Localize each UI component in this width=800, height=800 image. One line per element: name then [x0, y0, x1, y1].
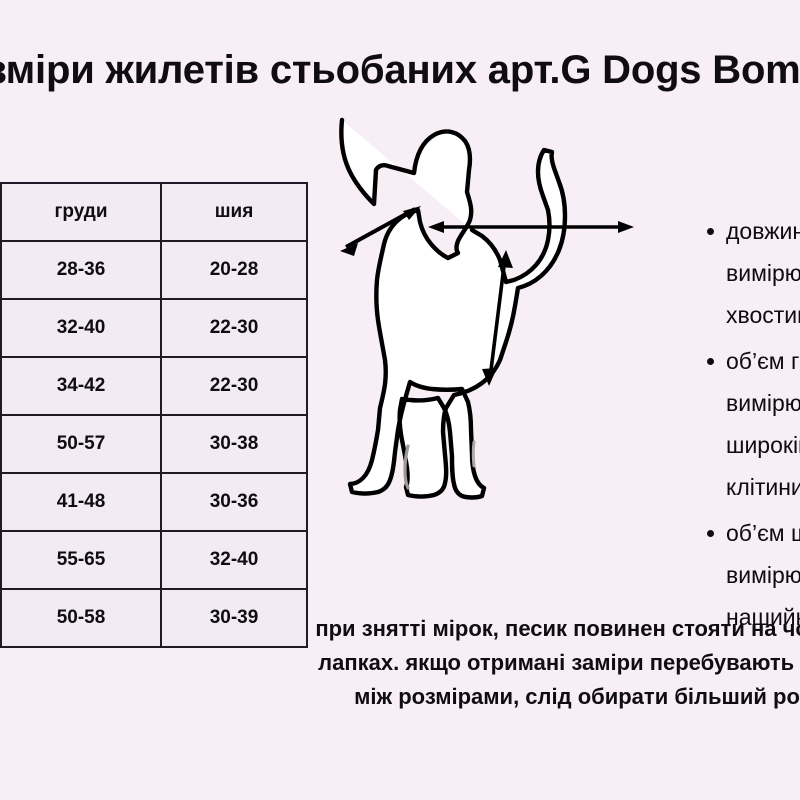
cell-chest: 41-48	[1, 473, 161, 531]
size-table-container: довжина груди шия XS 28-36 20-28 S 32-40…	[0, 182, 306, 648]
size-chart-page: Розміри жилетів стьобаних арт.G Dogs Bom…	[0, 0, 800, 800]
table-row: M 34-42 22-30	[0, 357, 307, 415]
cell-chest: 55-65	[1, 531, 161, 589]
dog-leg-shading-rear	[473, 442, 474, 466]
column-header-chest: груди	[1, 183, 161, 241]
tip-line: широкій частині грудної	[726, 424, 800, 466]
tip-line: об’єм грудей —	[726, 340, 800, 382]
table-row: XL 41-48 30-36	[0, 473, 307, 531]
cell-chest: 34-42	[1, 357, 161, 415]
note-line: між розмірами, слід обирати більший розм…	[50, 680, 800, 714]
list-item-back-length: довжина спинки — вимірюється від холки д…	[726, 210, 800, 336]
cell-neck: 30-36	[161, 473, 307, 531]
cell-neck: 30-38	[161, 415, 307, 473]
cell-neck: 20-28	[161, 241, 307, 299]
note-line: при знятті мірок, песик повинен стояти н…	[50, 612, 800, 646]
list-item-chest-girth: об’єм грудей — вимірюється у найбільш ши…	[726, 340, 800, 508]
column-header-neck: шия	[161, 183, 307, 241]
cell-chest: 50-57	[1, 415, 161, 473]
tip-line: хвостика	[726, 294, 800, 336]
dog-body-shape	[341, 120, 565, 498]
cell-neck: 22-30	[161, 299, 307, 357]
tips-ul: довжина спинки — вимірюється від холки д…	[700, 210, 800, 638]
tip-line: вимірюється у найбільш	[726, 382, 800, 424]
tip-line: довжина спинки —	[726, 210, 800, 252]
table-row: S 32-40 22-30	[0, 299, 307, 357]
cell-neck: 32-40	[161, 531, 307, 589]
tip-line: вимірюється від холки до	[726, 252, 800, 294]
tip-line: об’єм шиї —	[726, 512, 800, 554]
table-row: XXL 55-65 32-40	[0, 531, 307, 589]
cell-neck: 22-30	[161, 357, 307, 415]
table-row: L 50-57 30-38	[0, 415, 307, 473]
tip-line: вимірюється по основі	[726, 554, 800, 596]
page-title: Розміри жилетів стьобаних арт.G Dogs Bom…	[0, 48, 800, 92]
size-table: довжина груди шия XS 28-36 20-28 S 32-40…	[0, 182, 308, 648]
tip-line: клітини	[726, 466, 800, 508]
cell-chest: 32-40	[1, 299, 161, 357]
back-length-arrow	[428, 221, 634, 233]
page-title-text: Розміри жилетів стьобаних арт.G Dogs Bom…	[0, 48, 800, 92]
dog-measurement-illustration	[330, 110, 702, 535]
measurement-instructions-note: при знятті мірок, песик повинен стояти н…	[50, 612, 800, 714]
table-header-row: довжина груди шия	[0, 183, 307, 241]
measurement-tips-list: довжина спинки — вимірюється від холки д…	[700, 210, 800, 642]
table-row: XS 28-36 20-28	[0, 241, 307, 299]
cell-chest: 28-36	[1, 241, 161, 299]
note-line: лапках. якщо отримані заміри перебувають…	[50, 646, 800, 680]
